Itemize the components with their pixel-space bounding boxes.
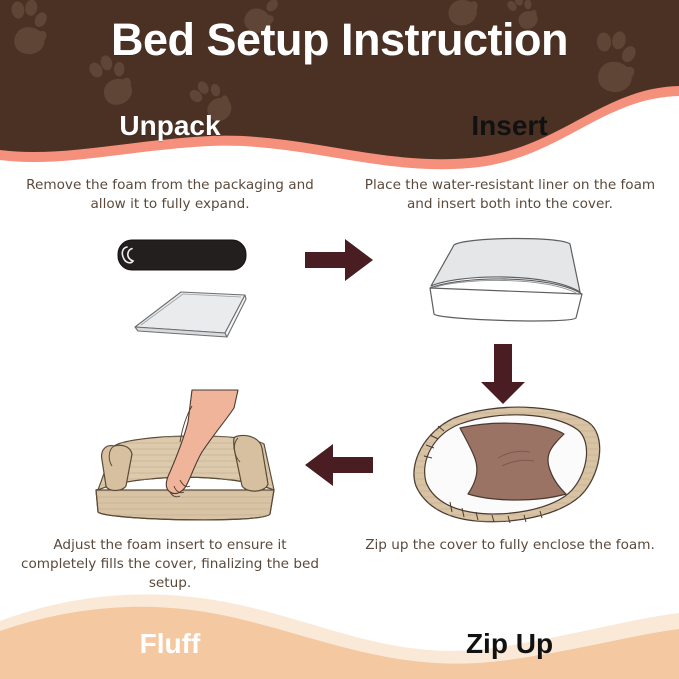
step-heading-zipup: Zip Up [340,628,679,660]
step-heading-insert: Insert [340,110,679,142]
step-caption-insert: Place the water-resistant liner on the f… [358,176,662,214]
step-caption-fluff: Adjust the foam insert to ensure it comp… [18,536,322,592]
bed-setup-infographic: Bed Setup Instruction Unpack Insert Fluf… [0,0,679,679]
step-caption-zipup: Zip up the cover to fully enclose the fo… [358,536,662,555]
step-heading-unpack: Unpack [0,110,340,142]
step-heading-fluff: Fluff [0,628,340,660]
foam-cushion-icon [430,279,582,321]
hand-fluffing-bed-illustration [88,386,318,536]
arrow-down-icon [478,342,528,406]
liner-sheet-icon [135,292,246,337]
arrow-left-icon [303,440,375,490]
liner-top-icon [431,238,580,294]
arrow-right-icon [303,235,375,285]
rolled-foam-and-liner-illustration [105,232,275,342]
zipping-cover-illustration [398,398,624,530]
step-caption-unpack: Remove the foam from the packaging and a… [18,176,322,214]
page-title: Bed Setup Instruction [0,14,679,66]
foam-with-liner-illustration [420,228,600,340]
bed-bolster-left [102,445,132,490]
rolled-foam-icon [118,240,246,270]
